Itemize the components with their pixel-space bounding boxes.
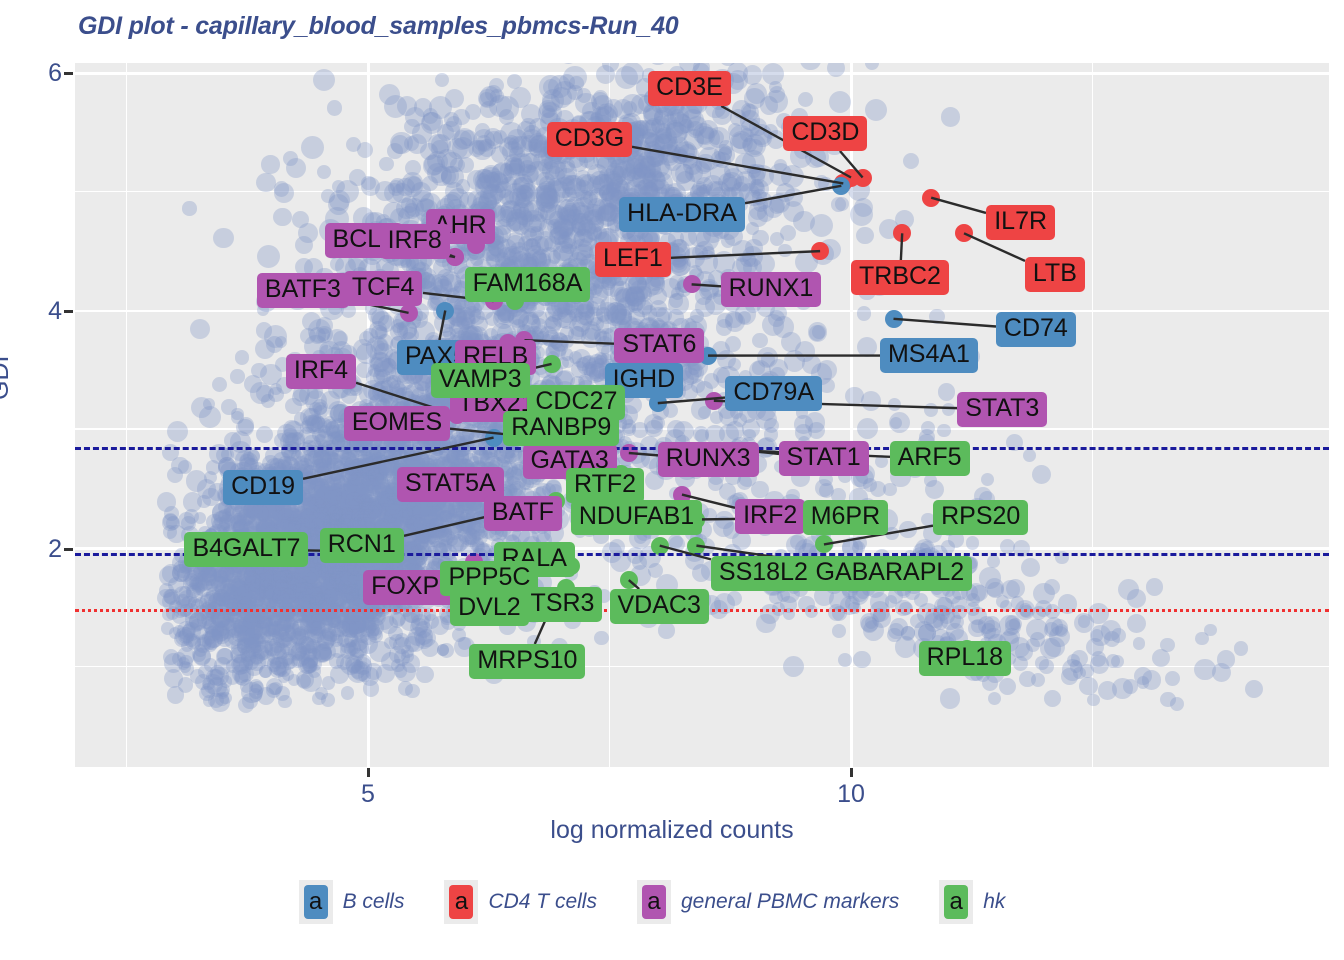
scatter-point [810, 214, 833, 237]
scatter-point [313, 69, 335, 91]
scatter-point [395, 662, 416, 683]
scatter-point [865, 63, 879, 70]
scatter-point [422, 176, 437, 191]
scatter-point [226, 659, 240, 673]
scatter-point [286, 158, 306, 178]
scatter-point [161, 622, 174, 635]
scatter-point [439, 643, 455, 659]
scatter-point [167, 421, 189, 443]
grid-line-x-minor [126, 63, 128, 767]
scatter-point [438, 527, 453, 542]
scatter-point [317, 165, 331, 179]
scatter-point [292, 211, 309, 228]
scatter-point [857, 306, 872, 321]
scatter-point [321, 391, 340, 410]
scatter-point [594, 631, 608, 645]
scatter-point [354, 627, 370, 643]
scatter-point [273, 208, 292, 227]
scatter-point [445, 89, 465, 109]
scatter-point [596, 65, 615, 84]
scatter-point [204, 658, 217, 671]
scatter-point [941, 107, 960, 126]
scatter-point [929, 309, 945, 325]
scatter-point [301, 637, 317, 653]
scatter-point [261, 155, 279, 173]
scatter-point [265, 641, 280, 656]
scatter-point [251, 363, 266, 378]
scatter-point [250, 505, 269, 524]
scatter-point [310, 417, 326, 433]
scatter-point [369, 641, 390, 662]
scatter-point [220, 675, 232, 687]
scatter-point [835, 197, 849, 211]
scatter-point [279, 598, 298, 617]
gdi-plot-figure: GDI plot - capillary_blood_samples_pbmcs… [0, 0, 1344, 960]
page-title: GDI plot - capillary_blood_samples_pbmcs… [78, 12, 679, 41]
y-tick-label-2: 2 [22, 535, 62, 564]
y-tick-mark [64, 310, 73, 313]
scatter-point [230, 441, 250, 461]
scatter-point [850, 203, 873, 226]
scatter-point [301, 136, 324, 159]
scatter-point [257, 245, 281, 269]
scatter-point [798, 92, 813, 107]
scatter-point [344, 586, 359, 601]
scatter-point [359, 385, 378, 404]
scatter-point [230, 369, 244, 383]
scatter-point [259, 583, 275, 599]
scatter-point [327, 100, 343, 116]
scatter-point [778, 244, 792, 258]
scatter-point [241, 682, 263, 704]
scatter-point [465, 533, 477, 545]
scatter-point [379, 157, 393, 171]
scatter-point [669, 293, 683, 307]
scatter-point [404, 119, 420, 135]
scatter-point [322, 676, 335, 689]
scatter-point [572, 213, 589, 230]
scatter-point [865, 99, 887, 121]
scatter-point [234, 621, 255, 642]
scatter-point [405, 160, 421, 176]
y-tick-mark [64, 72, 73, 75]
scatter-point [346, 492, 361, 507]
plot-panel: CD3ECD3GCD3DIL7RTRBC2LTBLEF1HLA-DRACD74M… [75, 63, 1329, 767]
scatter-point [765, 90, 788, 113]
scatter-point [341, 686, 355, 700]
scatter-point [416, 666, 434, 684]
scatter-point [428, 508, 447, 527]
scatter-point [337, 621, 350, 634]
scatter-point [274, 181, 289, 196]
scatter-point [212, 377, 228, 393]
scatter-point [347, 661, 369, 683]
scatter-point [435, 73, 449, 87]
scatter-point [752, 333, 768, 349]
scatter-point [308, 657, 322, 671]
x-tick-mark [367, 768, 370, 777]
scatter-point [752, 230, 769, 247]
scatter-point [695, 241, 714, 260]
scatter-point [827, 63, 845, 77]
scatter-point [182, 201, 196, 215]
scatter-point [244, 566, 261, 583]
scatter-point [323, 514, 339, 530]
x-tick-label-10: 10 [821, 780, 881, 809]
scatter-point [221, 399, 237, 415]
scatter-point [329, 190, 350, 211]
scatter-point [190, 319, 210, 339]
scatter-point [371, 352, 391, 372]
scatter-point [856, 227, 874, 245]
scatter-point [194, 512, 206, 524]
scatter-point [531, 318, 547, 334]
scatter-point [235, 350, 250, 365]
scatter-point [331, 605, 349, 623]
scatter-point [157, 492, 176, 511]
scatter-point [259, 665, 272, 678]
scatter-point [241, 650, 257, 666]
x-tick-mark [850, 768, 853, 777]
x-tick-label-5: 5 [338, 780, 398, 809]
scatter-point [405, 684, 419, 698]
x-axis-title: log normalized counts [0, 816, 1344, 845]
scatter-point [327, 458, 344, 475]
scatter-point [278, 695, 291, 708]
y-tick-label-6: 6 [22, 59, 62, 88]
scatter-point [350, 648, 364, 662]
y-tick-mark [64, 548, 73, 551]
scatter-point [903, 153, 919, 169]
scatter-point [421, 112, 443, 134]
scatter-point [380, 616, 398, 634]
scatter-point [208, 693, 223, 708]
scatter-point [256, 322, 273, 339]
scatter-point [256, 173, 275, 192]
scatter-point [186, 470, 208, 492]
scatter-point [256, 426, 273, 443]
scatter-point [310, 591, 325, 606]
scatter-point [190, 669, 205, 684]
scatter-point [359, 331, 374, 346]
scatter-point [323, 588, 338, 603]
scatter-point [178, 512, 195, 529]
scatter-point [357, 142, 374, 159]
scatter-point [300, 670, 322, 692]
scatter-point [437, 269, 454, 286]
scatter-point [321, 693, 335, 707]
scatter-point [177, 621, 196, 640]
scatter-point [381, 380, 393, 392]
scatter-point [361, 475, 379, 493]
y-axis-title: GDI [0, 356, 15, 400]
y-tick-label-4: 4 [22, 297, 62, 326]
scatter-point [770, 232, 784, 246]
scatter-point [213, 228, 234, 249]
scatter-point [389, 646, 406, 663]
